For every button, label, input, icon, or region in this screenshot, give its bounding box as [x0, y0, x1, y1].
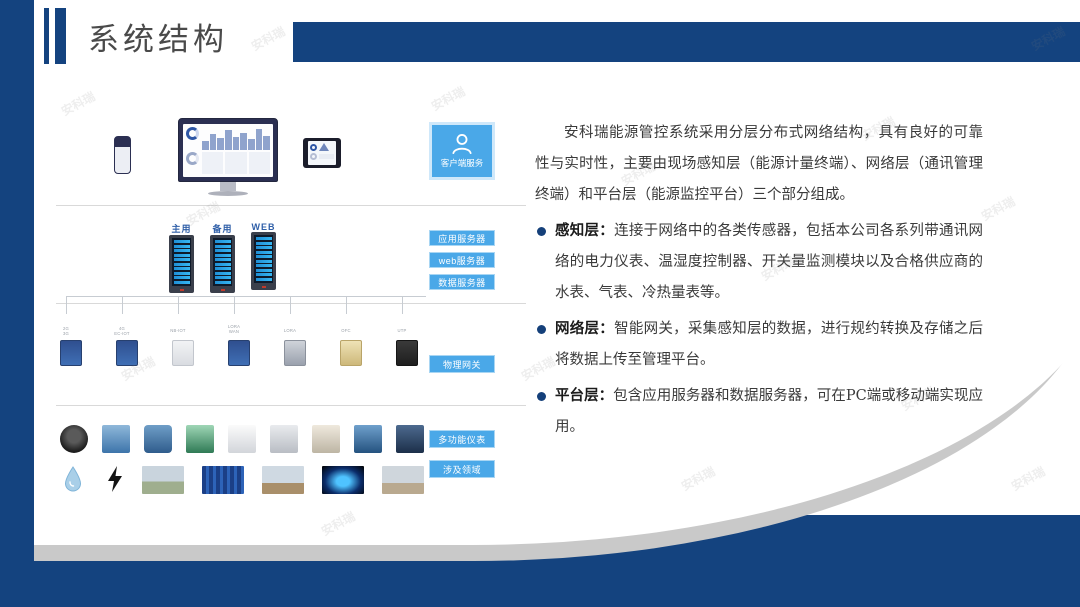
- terminal-label-ofc: OFC: [326, 328, 366, 333]
- gauge-icon: [186, 152, 199, 165]
- web-server-chip[interactable]: web服务器: [429, 252, 495, 268]
- tablet-device: [303, 138, 341, 168]
- page-title: 系统结构: [88, 14, 228, 59]
- diagram-divider: [56, 303, 526, 304]
- app-server-label: 应用服务器: [438, 232, 486, 245]
- black-meter-icon: [60, 425, 88, 453]
- electricity-bolt-icon: [106, 466, 124, 492]
- terminal-label-lorawan: LORA WAN: [214, 324, 254, 334]
- fiber-cable-icon: [340, 340, 362, 366]
- rack-led-panel: [213, 238, 232, 286]
- bullet-term: 平台层：: [555, 387, 613, 404]
- multifunction-meter-label: 多功能仪表: [438, 433, 486, 446]
- dashboard-top-row: [186, 127, 270, 150]
- left-blue-rail: [0, 0, 34, 607]
- bullet-detail: 连接于网络中的各类传感器，包括本公司各系列带通讯网络的电力仪表、温湿度控制器、开…: [555, 223, 983, 301]
- data-server-chip[interactable]: 数据服务器: [429, 274, 495, 290]
- network-drop-line: [178, 296, 179, 314]
- title-accent-bar-thin: [44, 8, 49, 64]
- watermark: 安科瑞: [248, 23, 288, 55]
- terminal-label-nbiot: NB-IOT: [158, 328, 198, 333]
- blue-flame-photo: [322, 466, 364, 494]
- control-panel-icon: [396, 425, 424, 453]
- bullet-text: 感知层：连接于网络中的各类传感器，包括本公司各系列带通讯网络的电力仪表、温湿度控…: [555, 215, 983, 309]
- monitor-base: [208, 191, 248, 196]
- network-drop-line: [122, 296, 123, 314]
- rack-label: 备用: [210, 222, 235, 235]
- dashboard-preview: [183, 124, 273, 177]
- fields-chip[interactable]: 涉及领域: [429, 460, 495, 478]
- multifunction-meter-chip[interactable]: 多功能仪表: [429, 430, 495, 448]
- substation-photo: [382, 466, 424, 494]
- terminal-label-4g: 4G EC-IOT: [102, 326, 142, 336]
- web-server-label: web服务器: [439, 254, 486, 267]
- dashboard-bottom-row: [186, 152, 270, 175]
- network-drop-line: [346, 296, 347, 314]
- server-rack: [251, 232, 276, 290]
- rack-web: WEB: [251, 222, 276, 293]
- rack-label: 主用: [169, 222, 194, 235]
- bar-chart-icon: [202, 127, 270, 150]
- lora-gateway-icon: [228, 340, 250, 366]
- rack-power-led: [221, 289, 225, 291]
- pressure-transmitter-icon: [144, 425, 172, 453]
- bullet-detail: 智能网关，采集感知层的数据，进行规约转换及存储之后将数据上传至管理平台。: [555, 321, 983, 368]
- network-drop-line: [402, 296, 403, 314]
- terminal-label-2g3g: 2G 3G: [46, 326, 86, 336]
- bullet-text: 平台层：包含应用服务器和数据服务器，可在PC端或移动端实现应用。: [555, 380, 983, 443]
- donut-chart-icon: [186, 127, 199, 140]
- physical-gateway-chip[interactable]: 物理网关: [429, 355, 495, 373]
- bullet-term: 感知层：: [555, 222, 614, 239]
- gas-meter-icon: [312, 425, 340, 453]
- green-meter-icon: [186, 425, 214, 453]
- bullet-dot-icon: [537, 227, 546, 236]
- diagram-divider: [56, 405, 526, 406]
- monitor-neck: [220, 182, 236, 191]
- server-rack-group: 主用 备用 WEB: [169, 222, 276, 293]
- solar-panel-photo: [202, 466, 244, 494]
- temperature-sensor-icon: [270, 425, 298, 453]
- title-accent-bar-thick: [55, 8, 66, 64]
- nb-device-icon: [172, 340, 194, 366]
- header-blue-block: [293, 22, 1080, 62]
- watermark: 安科瑞: [1008, 463, 1048, 495]
- bullet-item-platform: 平台层：包含应用服务器和数据服务器，可在PC端或移动端实现应用。: [535, 380, 983, 443]
- intro-paragraph: 安科瑞能源管控系统采用分层分布式网络结构，具有良好的可靠性与实时性，主要由现场感…: [535, 118, 983, 211]
- monitor-screen: [178, 118, 278, 182]
- client-service-label: 客户端服务: [441, 157, 484, 169]
- client-service-chip[interactable]: 客户端服务: [429, 122, 495, 180]
- server-rack: [169, 235, 194, 293]
- app-server-chip[interactable]: 应用服务器: [429, 230, 495, 246]
- slide-root: 系统结构 安科瑞能源管控系统采用分层分布式网络结构，具有良好的可靠性与实时性，主…: [0, 0, 1080, 607]
- network-bus-line: [66, 296, 426, 297]
- server-rack: [210, 235, 235, 293]
- tablet-screen: [308, 141, 336, 165]
- gas-storage-photo: [262, 466, 304, 494]
- terminal-label-lora: LORA: [270, 328, 310, 333]
- white-sensor-icon: [228, 425, 256, 453]
- bullet-text: 网络层：智能网关，采集感知层的数据，进行规约转换及存储之后将数据上传至管理平台。: [555, 313, 983, 376]
- watermark: 安科瑞: [978, 193, 1018, 225]
- diagram-divider: [56, 205, 526, 206]
- network-drop-line: [234, 296, 235, 314]
- wind-power-photo: [142, 466, 184, 494]
- rack-led-panel: [254, 235, 273, 283]
- rack-power-led: [262, 286, 266, 288]
- rack-label: WEB: [251, 222, 276, 232]
- rack-led-panel: [172, 238, 191, 286]
- network-drop-line: [290, 296, 291, 314]
- rack-primary: 主用: [169, 222, 194, 293]
- desktop-monitor-device: [178, 118, 278, 196]
- phone-device: [114, 136, 131, 174]
- physical-gateway-label: 物理网关: [443, 358, 481, 371]
- rack-backup: 备用: [210, 222, 235, 293]
- network-drop-line: [66, 296, 67, 314]
- rack-power-led: [180, 289, 184, 291]
- terminal-label-utp: UTP: [382, 328, 422, 333]
- fields-label: 涉及领域: [443, 463, 481, 476]
- user-icon: [451, 134, 473, 154]
- bullet-item-network: 网络层：智能网关，采集感知层的数据，进行规约转换及存储之后将数据上传至管理平台。: [535, 313, 983, 376]
- modem-icon: [116, 340, 138, 366]
- bullet-dot-icon: [537, 325, 546, 334]
- bullet-item-perception: 感知层：连接于网络中的各类传感器，包括本公司各系列带通讯网络的电力仪表、温湿度控…: [535, 215, 983, 309]
- flow-meter-icon: [102, 425, 130, 453]
- bullet-term: 网络层：: [555, 320, 614, 337]
- bullet-detail: 包含应用服务器和数据服务器，可在PC端或移动端实现应用。: [555, 388, 983, 435]
- lora-node-icon: [284, 340, 306, 366]
- description-panel: 安科瑞能源管控系统采用分层分布式网络结构，具有良好的可靠性与实时性，主要由现场感…: [535, 118, 983, 443]
- architecture-diagram: 客户端服务 主用 备用: [38, 100, 528, 505]
- bullet-dot-icon: [537, 392, 546, 401]
- utp-cable-icon: [396, 340, 418, 366]
- data-server-label: 数据服务器: [438, 276, 486, 289]
- water-drop-icon: [64, 466, 82, 492]
- water-meter-icon: [354, 425, 382, 453]
- router-icon: [60, 340, 82, 366]
